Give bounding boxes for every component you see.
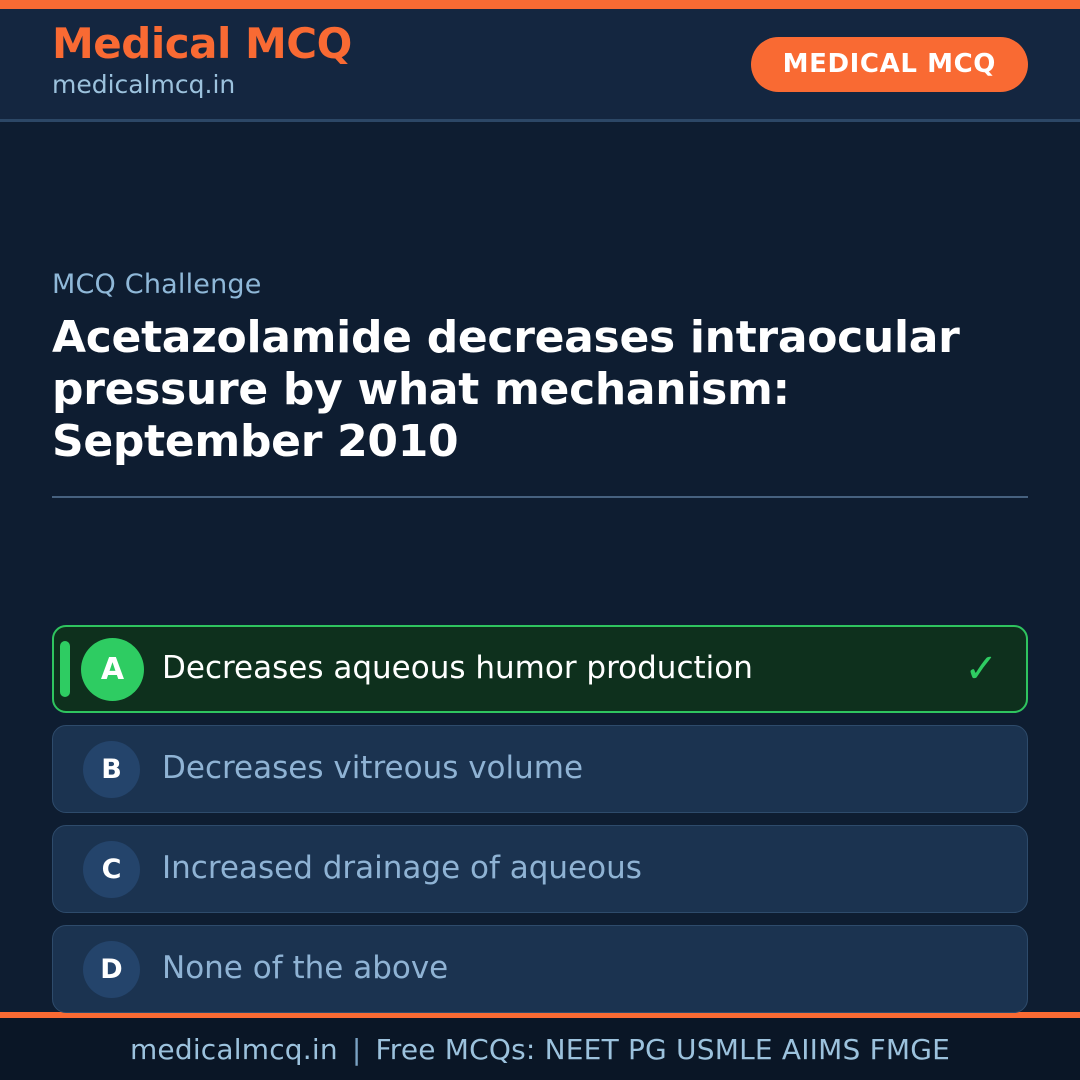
check-icon: ✓ bbox=[964, 649, 998, 689]
footer-text: medicalmcq.in|Free MCQs: NEET PG USMLE A… bbox=[130, 1033, 950, 1066]
brand-title: Medical MCQ bbox=[52, 22, 352, 66]
question-text: Acetazolamide decreases intraocular pres… bbox=[52, 312, 1028, 468]
footer-separator: | bbox=[338, 1033, 376, 1066]
eyebrow-label: MCQ Challenge bbox=[52, 269, 1028, 300]
option-letter-badge: B bbox=[83, 741, 140, 798]
header-badge: MEDICAL MCQ bbox=[751, 37, 1028, 92]
option-letter-badge: C bbox=[83, 841, 140, 898]
question-block: MCQ Challenge Acetazolamide decreases in… bbox=[52, 269, 1028, 498]
header: Medical MCQ medicalmcq.in MEDICAL MCQ bbox=[0, 9, 1080, 122]
footer-site: medicalmcq.in bbox=[130, 1033, 338, 1066]
footer-exams: Free MCQs: NEET PG USMLE AIIMS FMGE bbox=[375, 1033, 950, 1066]
option-d[interactable]: D None of the above bbox=[52, 925, 1028, 1013]
option-a[interactable]: A Decreases aqueous humor production ✓ bbox=[52, 625, 1028, 713]
option-text: Decreases aqueous humor production bbox=[162, 650, 964, 687]
top-accent-bar bbox=[0, 0, 1080, 9]
mcq-card: Medical MCQ medicalmcq.in MEDICAL MCQ MC… bbox=[0, 0, 1080, 1080]
option-letter-badge: A bbox=[81, 638, 144, 701]
brand-block: Medical MCQ medicalmcq.in bbox=[52, 22, 352, 102]
correct-accent-bar bbox=[60, 641, 70, 697]
option-text: None of the above bbox=[162, 950, 999, 987]
option-letter-badge: D bbox=[83, 941, 140, 998]
option-b[interactable]: B Decreases vitreous volume bbox=[52, 725, 1028, 813]
question-divider bbox=[52, 496, 1028, 498]
main-content: MCQ Challenge Acetazolamide decreases in… bbox=[0, 122, 1080, 1012]
option-text: Decreases vitreous volume bbox=[162, 750, 999, 787]
brand-tagline: medicalmcq.in bbox=[52, 69, 352, 102]
option-c[interactable]: C Increased drainage of aqueous bbox=[52, 825, 1028, 913]
option-text: Increased drainage of aqueous bbox=[162, 850, 999, 887]
options-list: A Decreases aqueous humor production ✓ B… bbox=[52, 625, 1028, 1025]
